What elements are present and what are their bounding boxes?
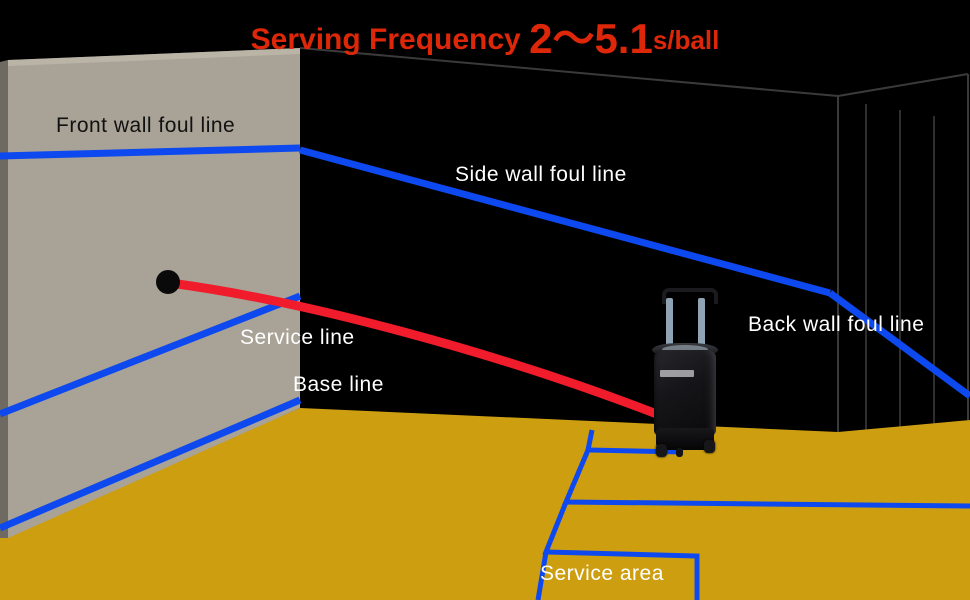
court-diagram-image: Serving Frequency 2～5.1s/ball Front wall… [0,0,970,600]
ball-serving-machine [640,288,732,460]
front-wall-left-edge [0,60,8,538]
machine-foot [676,448,683,457]
machine-body [654,350,716,436]
machine-logo [660,370,694,377]
court-scene [0,0,970,600]
ball-impact-dot [156,270,180,294]
machine-wheel-right [704,440,715,453]
machine-wheel-left [656,444,667,457]
